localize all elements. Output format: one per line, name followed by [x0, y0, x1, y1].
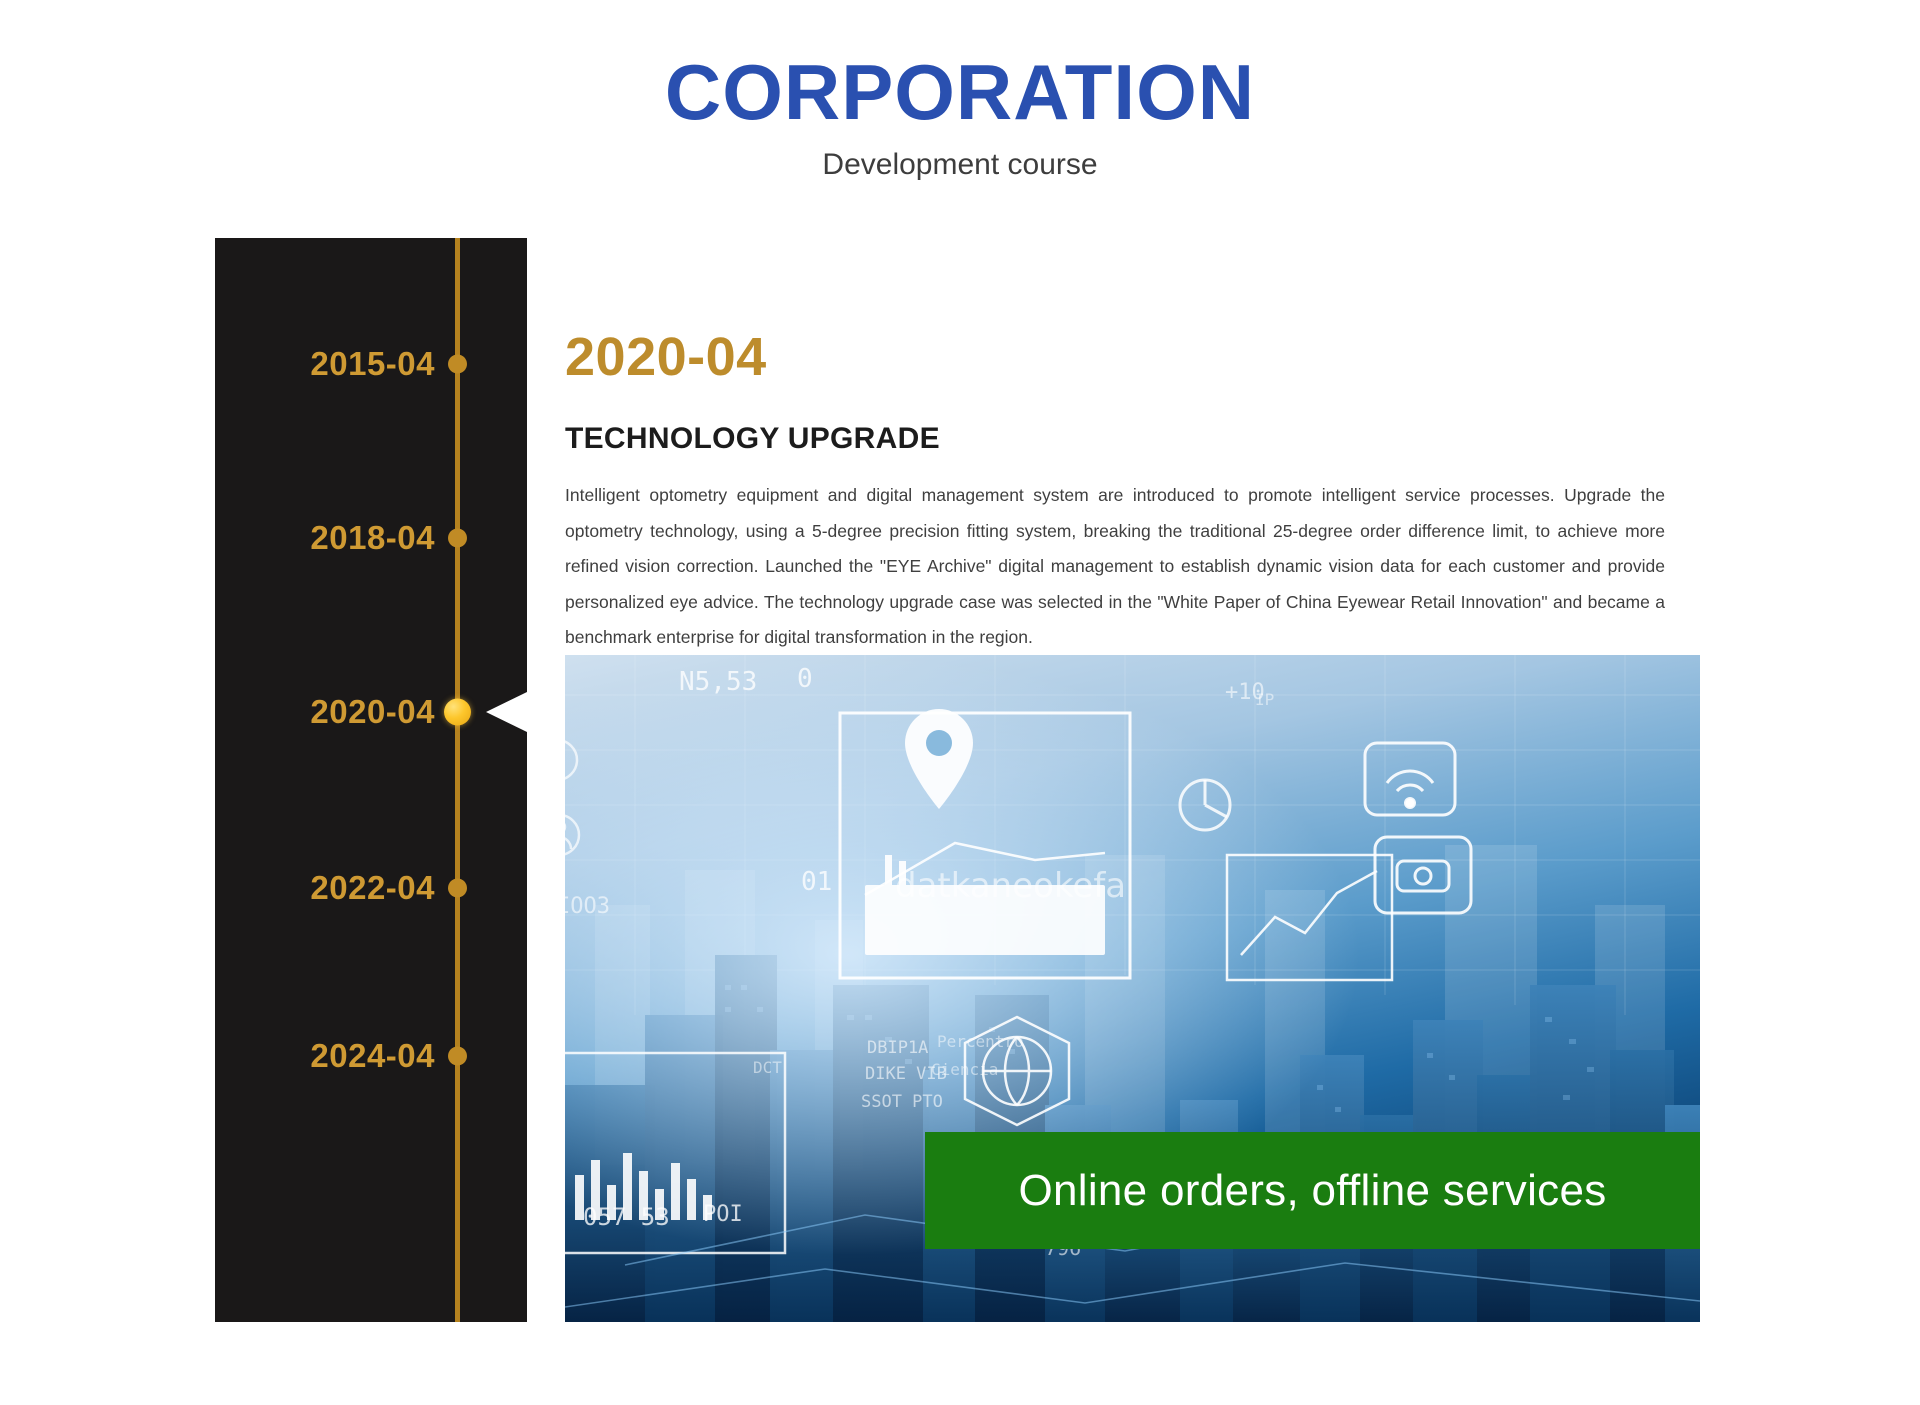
- timeline-item-label: 2020-04: [310, 693, 435, 731]
- svg-text:POI: POI: [703, 1202, 743, 1227]
- timeline-item-label: 2018-04: [310, 519, 435, 557]
- timeline-rail: [455, 238, 460, 1322]
- svg-text:0: 0: [797, 664, 813, 694]
- timeline-item-label: 2022-04: [310, 869, 435, 907]
- content-image: N5,53 0 01 datkaneokefa IOO3 057 53 POI …: [565, 655, 1700, 1322]
- timeline-dot[interactable]: [448, 1047, 467, 1066]
- timeline-active-pointer-icon: [486, 692, 527, 732]
- timeline-item-2015-04[interactable]: 2015-04: [215, 344, 527, 384]
- timeline-item-label: 2015-04: [310, 345, 435, 383]
- svg-text:057 53: 057 53: [583, 1203, 670, 1231]
- page-header: CORPORATION Development course: [0, 0, 1920, 182]
- page-subtitle: Development course: [0, 134, 1920, 182]
- timeline-dot-active[interactable]: [444, 699, 471, 726]
- timeline-panel: 2015-042018-042020-042022-042024-04: [215, 238, 527, 1322]
- svg-text:datkaneokefa: datkaneokefa: [895, 866, 1126, 906]
- content-date: 2020-04: [565, 238, 1700, 384]
- svg-text:IP: IP: [1255, 690, 1274, 709]
- svg-text:DCT: DCT: [753, 1058, 782, 1077]
- svg-text:SSOT PTO: SSOT PTO: [861, 1092, 943, 1112]
- svg-text:N5,53: N5,53: [679, 667, 757, 697]
- timeline-dot[interactable]: [448, 355, 467, 374]
- page-title: CORPORATION: [0, 0, 1920, 134]
- svg-text:Percentro: Percentro: [937, 1032, 1024, 1051]
- timeline-item-2022-04[interactable]: 2022-04: [215, 868, 527, 908]
- timeline-item-2018-04[interactable]: 2018-04: [215, 518, 527, 558]
- image-caption-banner: Online orders, offline services: [925, 1132, 1700, 1249]
- timeline-item-2020-04[interactable]: 2020-04: [215, 692, 527, 732]
- content-column: 2020-04 TECHNOLOGY UPGRADE Intelligent o…: [565, 238, 1700, 656]
- content-body: Intelligent optometry equipment and digi…: [565, 454, 1665, 656]
- svg-text:01: 01: [801, 867, 832, 897]
- svg-text:DBIP1A: DBIP1A: [867, 1038, 928, 1058]
- content-heading: TECHNOLOGY UPGRADE: [565, 384, 1700, 454]
- svg-text:IOO3: IOO3: [565, 894, 610, 919]
- timeline-dot[interactable]: [448, 529, 467, 548]
- timeline-dot[interactable]: [448, 879, 467, 898]
- timeline-item-2024-04[interactable]: 2024-04: [215, 1036, 527, 1076]
- image-caption-text: Online orders, offline services: [1018, 1166, 1606, 1216]
- svg-text:Ciencia: Ciencia: [931, 1060, 998, 1079]
- timeline-item-label: 2024-04: [310, 1037, 435, 1075]
